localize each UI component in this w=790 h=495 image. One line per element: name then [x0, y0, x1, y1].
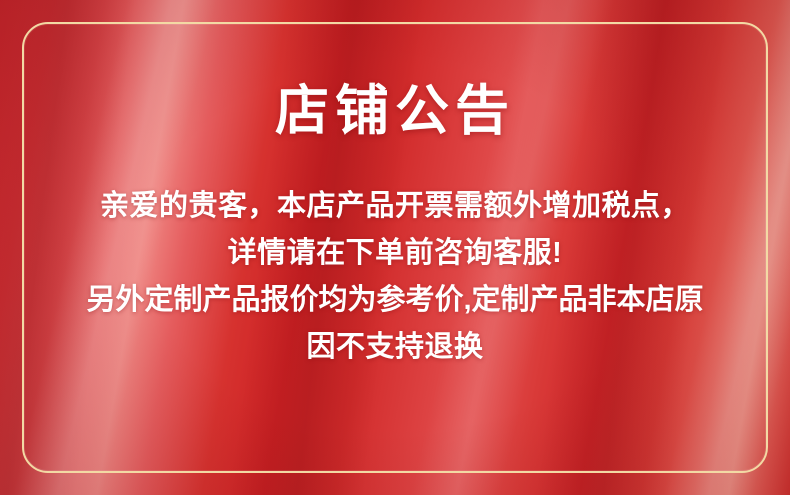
announcement-body: 亲爱的贵客，本店产品开票需额外增加税点， 详情请在下单前咨询客服! 另外定制产品… [86, 183, 703, 371]
announcement-line-1: 亲爱的贵客，本店产品开票需额外增加税点， [86, 183, 703, 230]
announcement-line-2: 详情请在下单前咨询客服! [86, 230, 703, 277]
announcement-title: 店铺公告 [275, 82, 515, 141]
store-announcement-banner: 店铺公告 亲爱的贵客，本店产品开票需额外增加税点， 详情请在下单前咨询客服! 另… [0, 0, 790, 495]
announcement-line-3: 另外定制产品报价均为参考价,定制产品非本店原 [86, 277, 703, 324]
announcement-line-4: 因不支持退换 [86, 324, 703, 371]
announcement-content: 店铺公告 亲爱的贵客，本店产品开票需额外增加税点， 详情请在下单前咨询客服! 另… [40, 60, 750, 435]
